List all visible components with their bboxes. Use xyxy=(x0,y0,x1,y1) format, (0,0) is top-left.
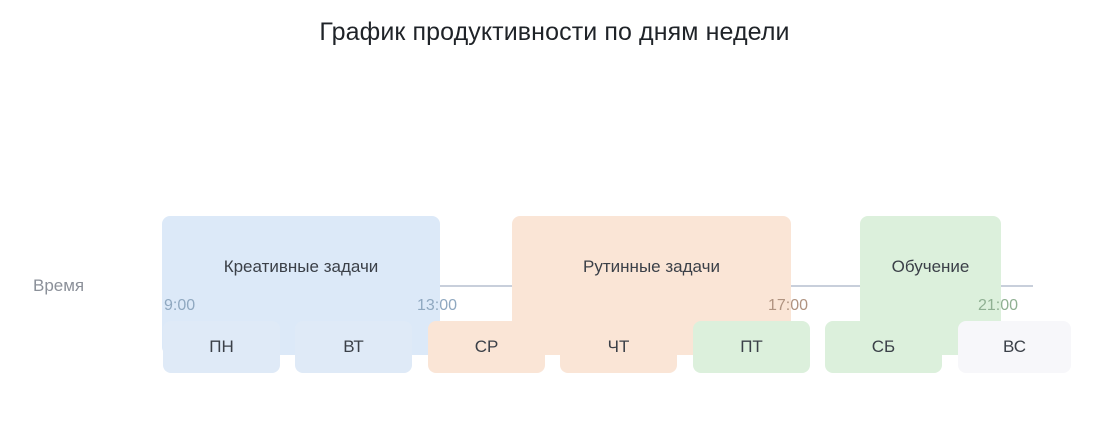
weekday-chip-label: ЧТ xyxy=(608,337,630,357)
time-tick-end: 17:00 xyxy=(671,295,808,316)
weekday-chip[interactable]: СБ xyxy=(825,321,942,373)
weekday-chip-label: СР xyxy=(475,337,499,357)
weekday-chip[interactable]: СР xyxy=(428,321,545,373)
weekday-chip-label: ПТ xyxy=(740,337,763,357)
weekday-chip[interactable]: ЧТ xyxy=(560,321,677,373)
weekday-chip-label: ВС xyxy=(1003,337,1026,357)
timeline-track: Время Креативные задачи 9:00 13:00 Рутин… xyxy=(0,105,1109,260)
weekday-chip[interactable]: ПТ xyxy=(693,321,810,373)
weekday-chip-row: ПНВТСРЧТПТСБВС xyxy=(163,321,1071,373)
time-tick-end: 13:00 xyxy=(320,295,457,316)
weekday-chip[interactable]: ПН xyxy=(163,321,280,373)
weekday-chip-label: СБ xyxy=(872,337,895,357)
timeline-block-label: Рутинные задачи xyxy=(512,256,791,278)
weekday-chip-label: ПН xyxy=(209,337,234,357)
axis-label-time: Время xyxy=(33,275,84,297)
timeline-block-label: Обучение xyxy=(860,256,1001,278)
weekday-chip-label: ВТ xyxy=(343,337,364,357)
productivity-chart: График продуктивности по дням недели Вре… xyxy=(0,0,1109,424)
timeline-block-label: Креативные задачи xyxy=(162,256,440,278)
page-title: График продуктивности по дням недели xyxy=(0,16,1109,48)
time-tick-end: 21:00 xyxy=(881,295,1018,316)
weekday-chip[interactable]: ВТ xyxy=(295,321,412,373)
time-tick-start: 9:00 xyxy=(164,295,195,316)
weekday-chip[interactable]: ВС xyxy=(958,321,1071,373)
